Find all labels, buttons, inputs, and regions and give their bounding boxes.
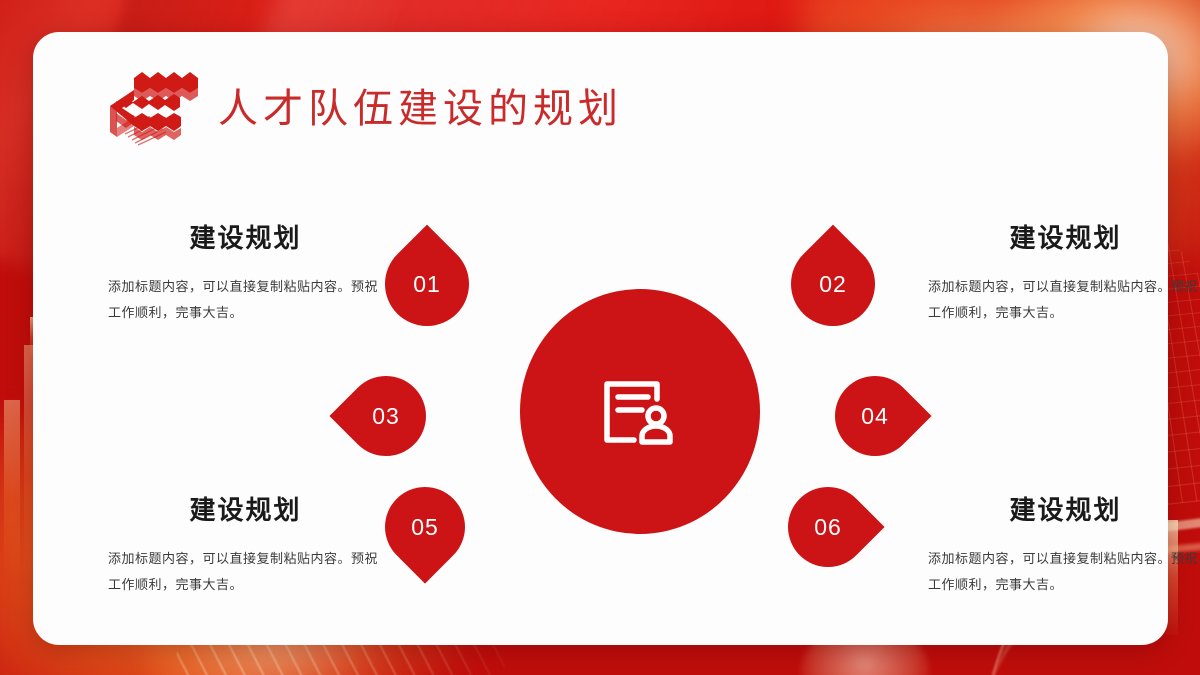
slide-header: 人才队伍建设的规划	[33, 32, 1168, 152]
map-pin-02[interactable]: 02	[791, 242, 875, 326]
feature-block-2-body: 添加标题内容，可以直接复制粘贴内容。预祝工作顺利，完事大吉。	[928, 275, 1200, 327]
feature-block-4: 建设规划 添加标题内容，可以直接复制粘贴内容。预祝工作顺利，完事大吉。	[928, 490, 1200, 599]
feature-block-2-heading: 建设规划	[928, 218, 1200, 255]
feature-block-2: 建设规划 添加标题内容，可以直接复制粘贴内容。预祝工作顺利，完事大吉。	[928, 218, 1200, 327]
feature-block-1-body: 添加标题内容，可以直接复制粘贴内容。预祝工作顺利，完事大吉。	[108, 275, 383, 327]
map-pin-01-number: 01	[385, 242, 469, 326]
feature-block-4-body: 添加标题内容，可以直接复制粘贴内容。预祝工作顺利，完事大吉。	[928, 547, 1200, 599]
feature-block-1-heading: 建设规划	[108, 218, 383, 255]
slide-stage: 人才队伍建设的规划 建设规划 添加标题内容，可以直接复制粘贴内容。预祝工作顺利，…	[0, 0, 1200, 675]
map-pin-03-number: 03	[346, 376, 426, 456]
map-pin-02-number: 02	[791, 242, 875, 326]
map-pin-04[interactable]: 04	[835, 376, 915, 456]
map-pin-01[interactable]: 01	[385, 242, 469, 326]
resume-person-document-icon	[594, 366, 686, 458]
page-title: 人才队伍建设的规划	[218, 76, 623, 134]
feature-block-1: 建设规划 添加标题内容，可以直接复制粘贴内容。预祝工作顺利，完事大吉。	[108, 218, 383, 327]
feature-block-3: 建设规划 添加标题内容，可以直接复制粘贴内容。预祝工作顺利，完事大吉。	[108, 490, 383, 599]
feature-block-4-heading: 建设规划	[928, 490, 1200, 527]
map-pin-05-number: 05	[385, 487, 465, 567]
map-pin-04-number: 04	[835, 376, 915, 456]
feature-block-3-body: 添加标题内容，可以直接复制粘贴内容。预祝工作顺利，完事大吉。	[108, 547, 383, 599]
map-pin-06[interactable]: 06	[788, 487, 868, 567]
center-circle	[520, 289, 760, 534]
feature-block-3-heading: 建设规划	[108, 490, 383, 527]
content-card: 人才队伍建设的规划 建设规划 添加标题内容，可以直接复制粘贴内容。预祝工作顺利，…	[33, 32, 1168, 645]
map-pin-05[interactable]: 05	[385, 487, 465, 567]
great-wall-logo-icon	[90, 66, 215, 146]
map-pin-03[interactable]: 03	[346, 376, 426, 456]
map-pin-06-number: 06	[788, 487, 868, 567]
